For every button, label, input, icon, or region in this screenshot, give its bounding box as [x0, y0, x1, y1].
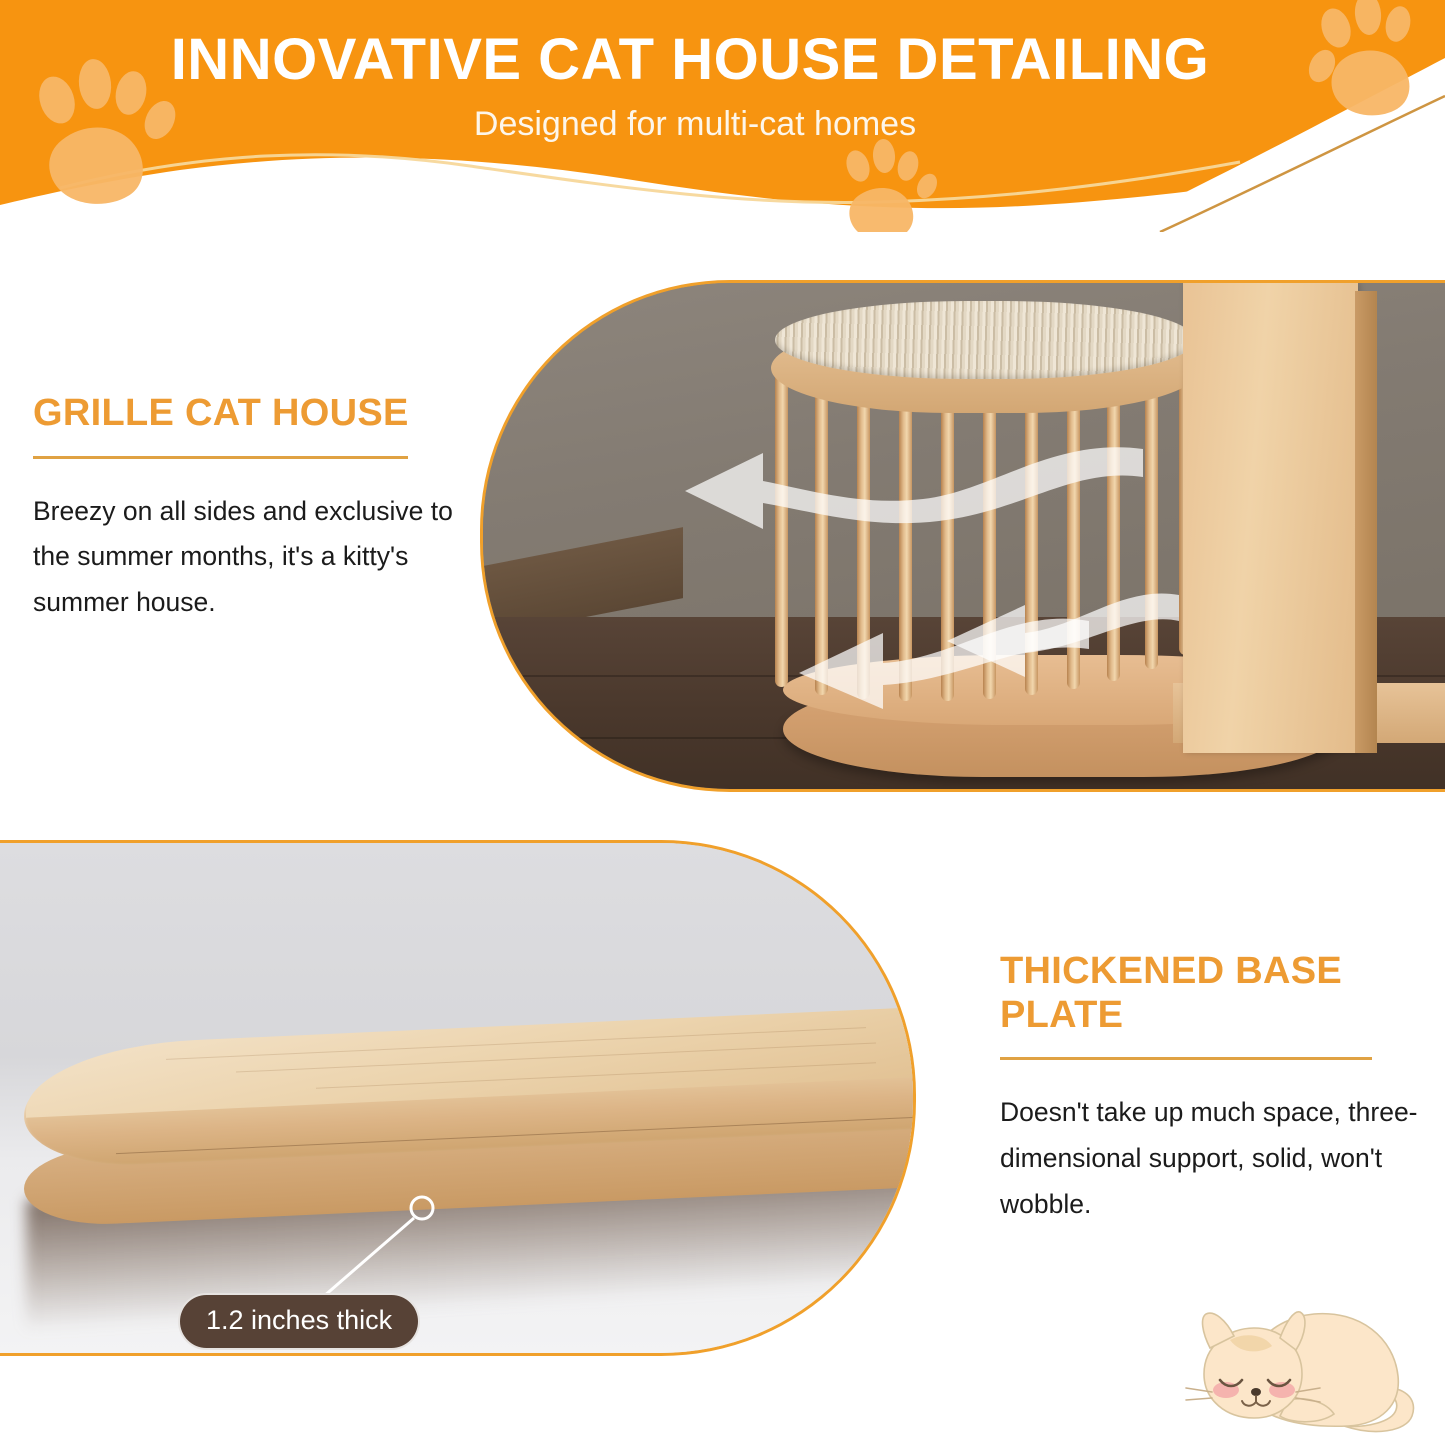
thickness-callout-badge: 1.2 inches thick — [178, 1293, 420, 1350]
cat-house-panel-edge — [1355, 291, 1377, 753]
section-1-heading: GRILLE CAT HOUSE — [33, 392, 463, 436]
section-2-body: Doesn't take up much space, three-dimens… — [1000, 1090, 1420, 1227]
section-2-heading: THICKENED BASE PLATE — [1000, 950, 1420, 1037]
banner-subtitle: Designed for multi-cat homes — [0, 104, 1390, 145]
banner-title: INNOVATIVE CAT HOUSE DETAILING — [0, 30, 1380, 91]
cat-house-side-panel — [1183, 283, 1358, 753]
thickened-base-plate-text-block: THICKENED BASE PLATE Doesn't take up muc… — [1000, 950, 1420, 1227]
infographic-page: INNOVATIVE CAT HOUSE DETAILING Designed … — [0, 0, 1445, 1442]
section-1-divider — [33, 456, 408, 459]
cat-nose — [1251, 1388, 1261, 1396]
cat-house-woven-cushion — [775, 301, 1195, 379]
grille-cat-house-photo — [480, 280, 1445, 792]
header-banner: INNOVATIVE CAT HOUSE DETAILING Designed … — [0, 0, 1445, 232]
airflow-arrow-bottom — [693, 601, 1113, 711]
grille-cat-house-text-block: GRILLE CAT HOUSE Breezy on all sides and… — [33, 392, 463, 625]
section-2-divider — [1000, 1057, 1372, 1060]
section-1-body: Breezy on all sides and exclusive to the… — [33, 489, 463, 626]
sleeping-cat-illustration — [1168, 1292, 1430, 1440]
airflow-arrow-top — [623, 433, 1183, 553]
